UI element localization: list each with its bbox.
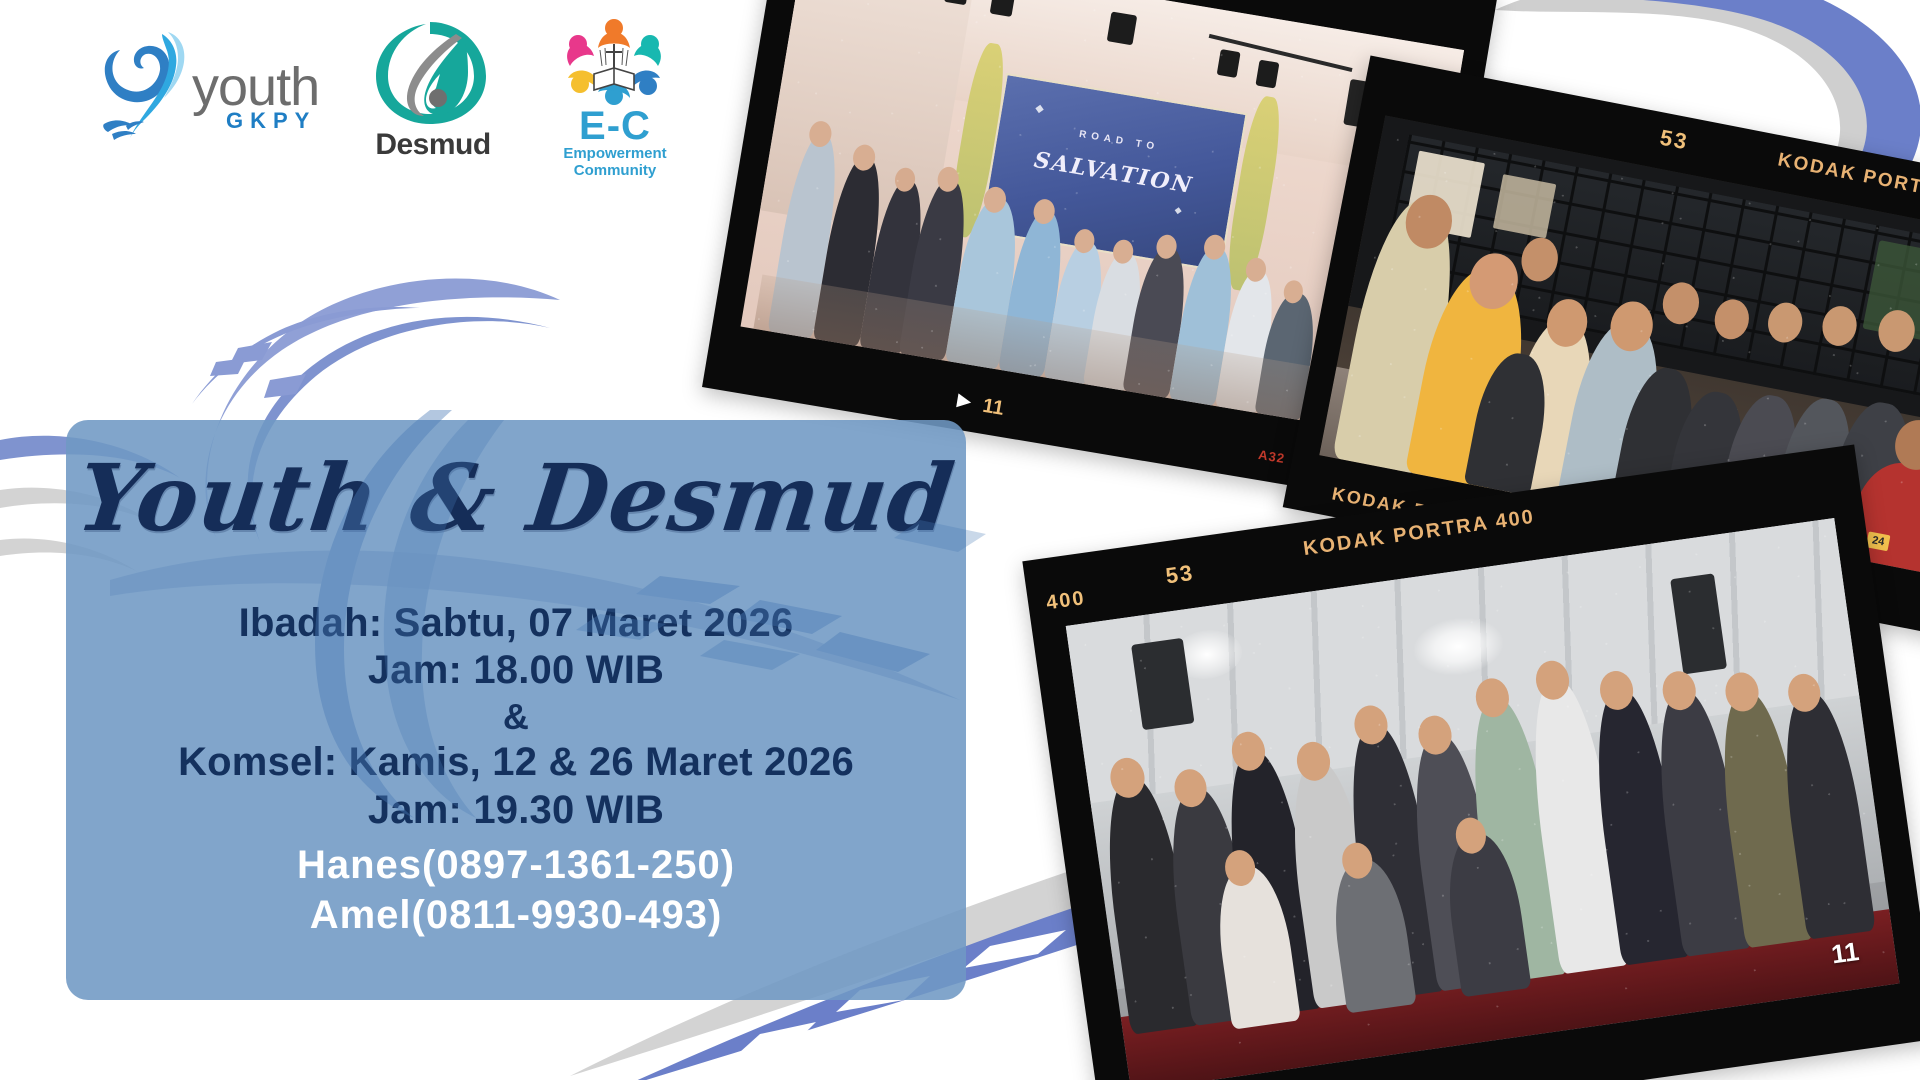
schedule-line-komsel: Komsel: Kamis, 12 & 26 Maret 2026 bbox=[66, 739, 966, 786]
logo-gkpy-text: GKPY bbox=[226, 110, 316, 132]
schedule-line-komsel-time: Jam: 19.30 WIB bbox=[66, 787, 966, 834]
scene-hall bbox=[1066, 518, 1900, 1080]
film-frame-number-bottom: 11 bbox=[981, 395, 1006, 421]
contact-amel[interactable]: Amel(0811-9930-493) bbox=[66, 890, 966, 940]
logo-row: youth GKPY Desmud bbox=[100, 18, 680, 168]
logo-empowerment-text: Empowerment bbox=[550, 146, 680, 161]
logo-youth-gkpy: youth GKPY bbox=[100, 18, 330, 148]
film-edge-code: A32 bbox=[1257, 447, 1286, 466]
film-frame-number-cafe: 53 bbox=[1658, 125, 1691, 156]
photo-hall-group-image: 11 bbox=[1066, 518, 1900, 1080]
logo-desmud-text: Desmud bbox=[368, 128, 498, 162]
film-tail-label-hall: 400 bbox=[1045, 587, 1087, 615]
film-frame-number-hall: 53 bbox=[1164, 560, 1196, 590]
page-title: Youth & Desmud bbox=[60, 452, 971, 544]
logo-desmud: Desmud bbox=[368, 18, 498, 168]
desmud-flame-mark-icon bbox=[370, 18, 490, 128]
logo-ec-empowerment: E-C Empowerment Community bbox=[550, 18, 680, 168]
poster-canvas: youth GKPY Desmud bbox=[0, 0, 1920, 1080]
ec-people-book-icon bbox=[554, 18, 674, 110]
contact-hanes[interactable]: Hanes(0897-1361-250) bbox=[66, 840, 966, 890]
event-schedule: Ibadah: Sabtu, 07 Maret 2026 Jam: 18.00 … bbox=[66, 600, 966, 834]
schedule-line-ibadah: Ibadah: Sabtu, 07 Maret 2026 bbox=[66, 600, 966, 647]
event-info-card: Youth & Desmud Ibadah: Sabtu, 07 Maret 2… bbox=[66, 420, 966, 1000]
photo-hall-group: 11 KODAK PORTRA 400 53 400 bbox=[1022, 444, 1920, 1080]
film-arrow-icon bbox=[956, 393, 972, 409]
schedule-line-ibadah-time: Jam: 18.00 WIB bbox=[66, 647, 966, 694]
logo-youth-text: youth bbox=[192, 60, 319, 114]
photo-overlay-number: 11 bbox=[1829, 936, 1861, 971]
logo-community-text: Community bbox=[550, 163, 680, 178]
schedule-separator: & bbox=[66, 694, 966, 739]
contact-list: Hanes(0897-1361-250) Amel(0811-9930-493) bbox=[66, 840, 966, 940]
logo-ec-text: E-C bbox=[550, 106, 680, 146]
